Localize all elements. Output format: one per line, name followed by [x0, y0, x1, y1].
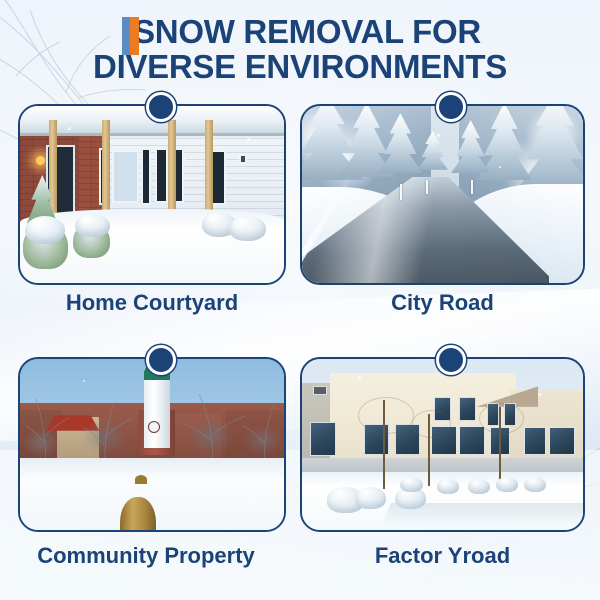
p4-window-strip	[459, 426, 484, 455]
p4-snow-shrub	[437, 479, 459, 494]
p4-wall-light-icon	[313, 386, 327, 395]
p1-porch-column-4	[205, 120, 213, 219]
p1-roof-edge	[20, 133, 284, 136]
card-home-courtyard[interactable]	[18, 104, 286, 285]
p1-snow-bush-2	[75, 214, 109, 237]
caption-community-property: Community Property	[12, 543, 280, 569]
p4-window	[310, 422, 335, 456]
card-factor-yroad[interactable]	[300, 357, 585, 532]
p1-snowflake	[68, 127, 71, 130]
p4-snowflake	[457, 383, 459, 385]
p1-snowflake	[247, 138, 250, 141]
poster-header: SNOW REMOVAL FOR DIVERSE ENVIRONMENTS	[0, 14, 600, 84]
p1-snow-bush-4	[229, 216, 266, 241]
p1-porch-column-3	[168, 120, 176, 219]
p1-porch-lamp-icon	[36, 156, 45, 165]
accent-bar-orange-icon	[130, 17, 139, 55]
caption-home-courtyard: Home Courtyard	[18, 290, 286, 316]
p1-snow-bush-1	[25, 216, 65, 244]
card-community-property[interactable]	[18, 357, 286, 532]
p4-tree-canopy	[412, 410, 451, 437]
title-line-2-wrap: DIVERSE ENVIRONMENTS	[0, 49, 600, 84]
photo-community-property	[20, 359, 284, 530]
p4-snow-shrub	[524, 477, 546, 492]
p1-porch-column-1	[49, 120, 57, 219]
p2-roadside-post	[471, 180, 473, 194]
poster-root: SNOW REMOVAL FOR DIVERSE ENVIRONMENTS	[0, 0, 600, 600]
photo-factor-yroad	[302, 359, 583, 530]
title-accent-bars	[122, 17, 144, 55]
title-line-1-wrap: SNOW REMOVAL FOR	[0, 14, 600, 49]
p2-roadside-post	[426, 180, 428, 194]
p1-window-1	[112, 150, 138, 203]
poster-title-line-2: DIVERSE ENVIRONMENTS	[93, 49, 507, 84]
p1-window-shutter-2	[141, 148, 150, 205]
caption-city-road: City Road	[300, 290, 585, 316]
p4-entrance-glass	[549, 427, 574, 454]
badge-dot-factor-yroad	[436, 345, 466, 375]
p4-snow-shrub	[400, 477, 422, 492]
p1-snowflake	[184, 159, 186, 161]
p4-tree-canopy	[479, 403, 524, 434]
photo-city-road	[302, 106, 583, 283]
card-city-road[interactable]	[300, 104, 585, 285]
badge-dot-community-property	[146, 345, 176, 375]
p4-window-upper	[459, 397, 476, 421]
p3-bell-crown	[135, 475, 147, 484]
p1-wall-lantern-icon	[239, 154, 247, 165]
badge-dot-city-road	[436, 92, 466, 122]
p1-porch-column-2	[102, 120, 110, 219]
p4-snow-shrub	[496, 477, 518, 492]
photo-home-courtyard	[20, 106, 284, 283]
badge-dot-home-courtyard	[146, 92, 176, 122]
p2-roadside-post	[400, 184, 402, 200]
p4-entrance-glass	[524, 427, 546, 454]
p1-window-2	[155, 148, 168, 203]
caption-factor-yroad: Factor Yroad	[300, 543, 585, 569]
poster-title-line-1: SNOW REMOVAL FOR	[133, 14, 481, 49]
p2-snowflake	[499, 166, 501, 168]
p4-snow-shrub	[468, 479, 490, 494]
p4-snow-shrub	[355, 487, 386, 509]
